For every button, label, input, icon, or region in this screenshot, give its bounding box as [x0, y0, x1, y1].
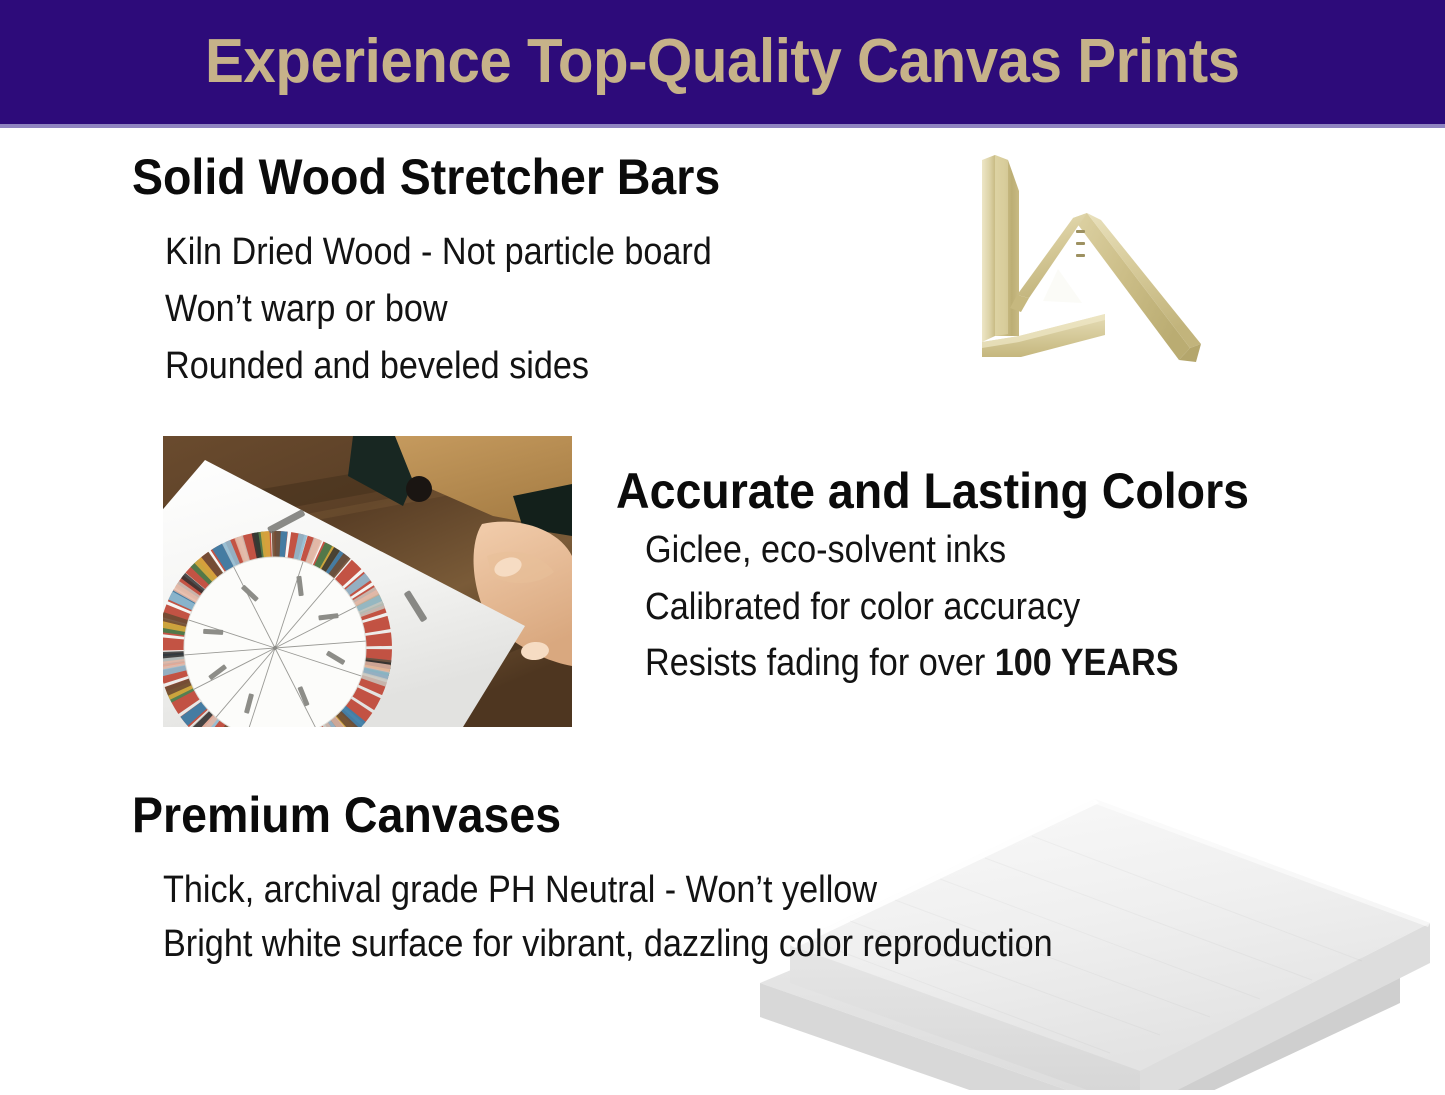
- heading-premium-canvases: Premium Canvases: [132, 790, 561, 840]
- bullet-rounded-and-beveled-sides: Rounded and beveled sides: [165, 347, 589, 385]
- bullet-resists-emphasis: 100 YEARS: [995, 642, 1179, 684]
- bullet-giclee-eco-solvent-inks: Giclee, eco-solvent inks: [645, 531, 1006, 569]
- header-banner: Experience Top-Quality Canvas Prints: [0, 0, 1445, 124]
- bullet-wont-warp-or-bow: Won’t warp or bow: [165, 290, 448, 328]
- bullet-resists-prefix: Resists fading for over: [645, 642, 995, 684]
- color-wheel-image: [163, 436, 572, 727]
- bullet-kiln-dried-wood: Kiln Dried Wood - Not particle board: [165, 233, 712, 271]
- blank-white-canvas-image: [640, 735, 1445, 1090]
- page-title: Experience Top-Quality Canvas Prints: [205, 31, 1240, 93]
- heading-accurate-and-lasting-colors: Accurate and Lasting Colors: [616, 466, 1249, 516]
- bullet-thick-archival-grade: Thick, archival grade PH Neutral - Won’t…: [163, 871, 877, 909]
- header-underline-divider: [0, 124, 1445, 128]
- bullet-resists-fading-100-years: Resists fading for over 100 YEARS: [645, 644, 1179, 682]
- bullet-calibrated-for-color-accuracy: Calibrated for color accuracy: [645, 588, 1080, 626]
- bullet-bright-white-surface: Bright white surface for vibrant, dazzli…: [163, 925, 1053, 963]
- wood-stretcher-bar-image: [955, 138, 1225, 400]
- heading-solid-wood-stretcher-bars: Solid Wood Stretcher Bars: [132, 152, 720, 202]
